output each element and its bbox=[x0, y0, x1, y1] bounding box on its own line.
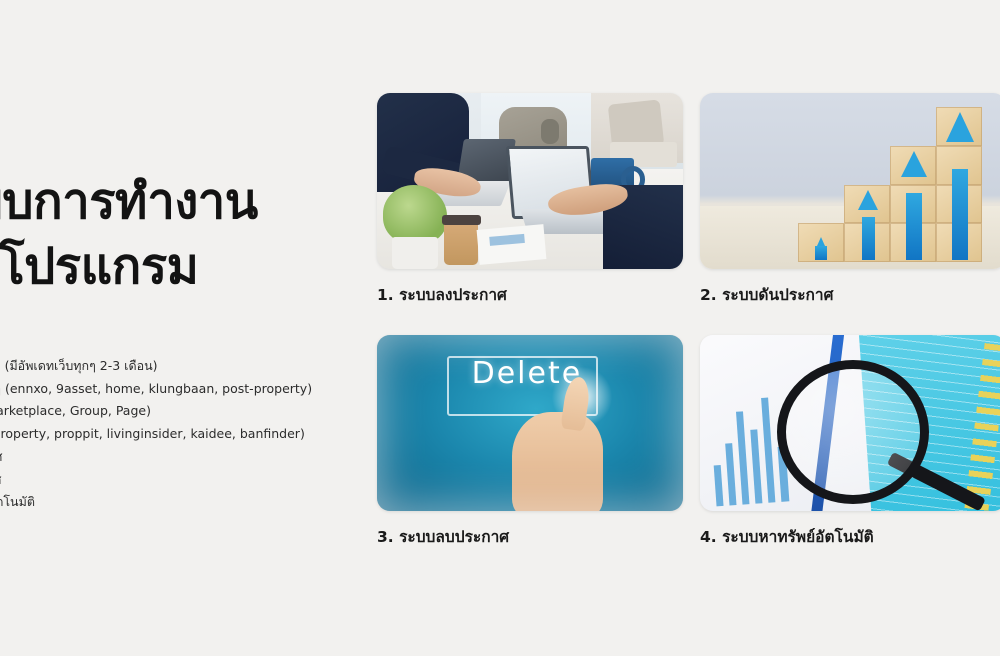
feature-card-2-caption: 2. ระบบดันประกาศ bbox=[700, 282, 1000, 307]
page-title-line-1: ะบบการทำงาน bbox=[0, 173, 258, 230]
list-item: บดันประกาศ bbox=[0, 446, 364, 469]
blue-arrow-3 bbox=[896, 151, 933, 260]
left-text-column: ะบบการทำงาน องโปรแกรม บลงประกาศ ฟรี 100 … bbox=[0, 0, 360, 656]
chart-bar bbox=[761, 397, 776, 503]
list-item: ฟรีพิเศษอื่นๆ (ennxo, 9asset, home, klun… bbox=[0, 378, 364, 401]
plant-pot bbox=[392, 237, 438, 269]
page-title: ะบบการทำงาน องโปรแกรม bbox=[0, 170, 366, 299]
page-title-line-2: องโปรแกรม bbox=[0, 235, 366, 300]
feature-card-3[interactable]: Delete 3. ระบบลบประกาศ bbox=[377, 335, 683, 549]
arrow-shaft bbox=[815, 246, 827, 260]
document-sheet bbox=[477, 224, 547, 265]
chart-bar bbox=[725, 443, 737, 506]
list-item: บหาทรัพย์อัตโนมัติ bbox=[0, 491, 364, 514]
feature-card-4[interactable]: 4. ระบบหาทรัพย์อัตโนมัติ bbox=[700, 335, 1000, 549]
list-item: บลงประกาศ bbox=[0, 332, 364, 355]
list-item: ฟรี 100 เว็บ (มีอัพเดทเว็บทุกๆ 2-3 เดือน… bbox=[0, 355, 364, 378]
feature-card-1[interactable]: 1. ระบบลงประกาศ bbox=[377, 93, 683, 307]
vignette-overlay bbox=[377, 335, 683, 511]
arrow-shaft bbox=[952, 169, 968, 261]
feature-card-3-caption: 3. ระบบลบประกาศ bbox=[377, 524, 683, 549]
chart-bar bbox=[713, 465, 723, 506]
office-desk-laptops-photo bbox=[377, 93, 683, 269]
feature-card-2[interactable]: 2. ระบบดันประกาศ bbox=[700, 93, 1000, 307]
chart-bar bbox=[736, 411, 750, 505]
list-item: บลบประกาศ bbox=[0, 469, 364, 492]
list-item: สียเงิน (ddproperty, proppit, livinginsi… bbox=[0, 423, 364, 446]
slide-canvas: ะบบการทำงาน องโปรแกรม บลงประกาศ ฟรี 100 … bbox=[0, 0, 1000, 656]
delete-button-press-photo: Delete bbox=[377, 335, 683, 511]
blue-arrow-2 bbox=[853, 190, 884, 260]
coffee-cup bbox=[444, 220, 478, 266]
arrow-head bbox=[858, 190, 878, 210]
arrow-head bbox=[901, 151, 927, 177]
chart-bar bbox=[750, 429, 763, 504]
magnifier-lens bbox=[777, 360, 930, 505]
blue-arrow-1 bbox=[807, 237, 835, 260]
magnifier-chart-photo bbox=[700, 335, 1000, 511]
arrow-head bbox=[817, 237, 825, 246]
feature-card-4-caption: 4. ระบบหาทรัพย์อัตโนมัติ bbox=[700, 524, 1000, 549]
growth-wooden-blocks-photo bbox=[700, 93, 1000, 269]
arrow-head bbox=[946, 112, 974, 142]
list-item: เebook (Marketplace, Group, Page) bbox=[0, 400, 364, 423]
blue-arrow-4 bbox=[942, 112, 979, 260]
arrow-shaft bbox=[862, 217, 875, 261]
arrow-shaft bbox=[906, 193, 922, 261]
feature-list: บลงประกาศ ฟรี 100 เว็บ (มีอัพเดทเว็บทุกๆ… bbox=[0, 332, 364, 514]
feature-card-1-caption: 1. ระบบลงประกาศ bbox=[377, 282, 683, 307]
